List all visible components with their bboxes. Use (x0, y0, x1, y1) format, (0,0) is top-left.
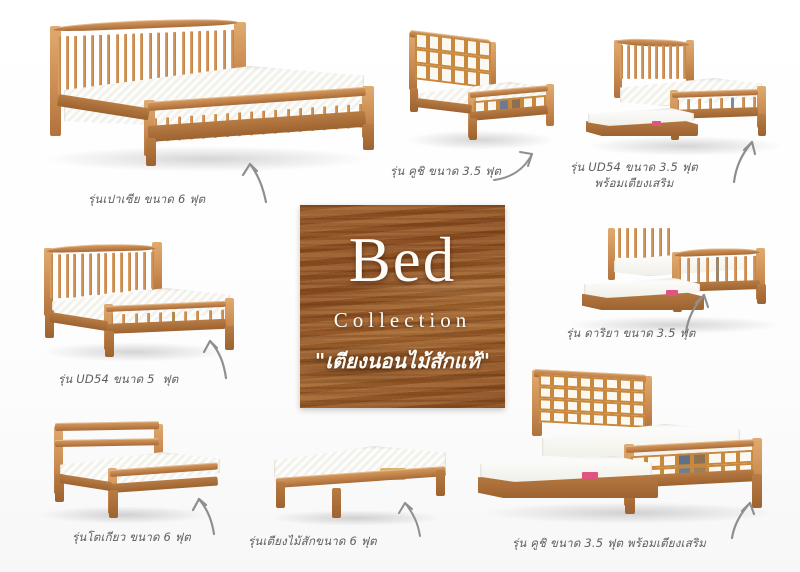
headboard-lattice (415, 32, 491, 88)
bed-leg-rear (332, 488, 341, 518)
floor-shadow (38, 506, 210, 524)
logo-title: Bed (300, 229, 505, 292)
bed-leg-front-right (363, 124, 374, 150)
bed-leg-front (109, 490, 118, 518)
arrow-to-tokyo (186, 494, 222, 536)
floor-shadow (42, 146, 372, 172)
bed-leg-front (469, 118, 477, 140)
logo-subtitle: Collection (300, 308, 505, 333)
bed-collection-logo: Bed Collection "เตียงนอนไม้สักแท้" (300, 205, 505, 408)
bed-leg-front-right (757, 284, 766, 304)
headboard-top-rail (55, 421, 159, 431)
headboard-slats (620, 45, 686, 79)
caption-dariya-35: รุ่น ดาริยา ขนาด 3.5 ฟุต (566, 326, 696, 342)
product-image-kushi-35[interactable] (398, 26, 568, 156)
bed-leg-front (105, 331, 114, 357)
bed-leg-front-left (276, 482, 285, 508)
caption-tokyo-6: รุ่นโตเกียว ขนาด 6 ฟุต (72, 530, 191, 546)
headboard-mid-rail (55, 438, 159, 447)
trundle-tag (582, 472, 598, 479)
headboard-post-right (686, 40, 694, 84)
caption-paosia-6: รุ่นเปาเซีย ขนาด 6 ฟุต (88, 192, 205, 208)
trundle-tag (652, 121, 661, 126)
product-image-dariya-35[interactable] (560, 228, 792, 340)
caption-kushi-35: รุ่น คูชิ ขนาด 3.5 ฟุต (390, 164, 501, 180)
product-image-paosia-6[interactable] (22, 14, 392, 174)
headboard-lattice (539, 374, 645, 428)
logo-tagline: "เตียงนอนไม้สักแท้" (300, 345, 505, 377)
arrow-to-ud54-5 (196, 336, 234, 380)
bed-leg-front-right (436, 470, 445, 496)
collage-canvas: Bed Collection "เตียงนอนไม้สักแท้" (0, 0, 800, 572)
trundle-tag (666, 290, 678, 296)
headboard-post-rear (608, 228, 615, 280)
arrow-to-kushi-trundle (722, 498, 762, 540)
bed-leg-front-right (758, 114, 766, 136)
arrow-to-teak (390, 498, 428, 538)
caption-ud54-35-trundle: รุ่น UD54 ขนาด 3.5 ฟุต พร้อมเตียงเสริม (570, 160, 698, 191)
arrow-to-ud54-trundle (722, 136, 762, 184)
headboard-slats-rear (610, 228, 670, 258)
arrow-to-paosia (232, 158, 272, 204)
caption-teak-6: รุ่นเตียงไม้สักขนาด 6 ฟุต (248, 534, 377, 550)
bed-leg-front (146, 138, 156, 166)
caption-ud54-5: รุ่น UD54 ขนาด 5 ฟุต (58, 372, 178, 388)
caption-kushi-35-trundle: รุ่น คูชิ ขนาด 3.5 ฟุต พร้อมเตียงเสริม (512, 536, 706, 552)
